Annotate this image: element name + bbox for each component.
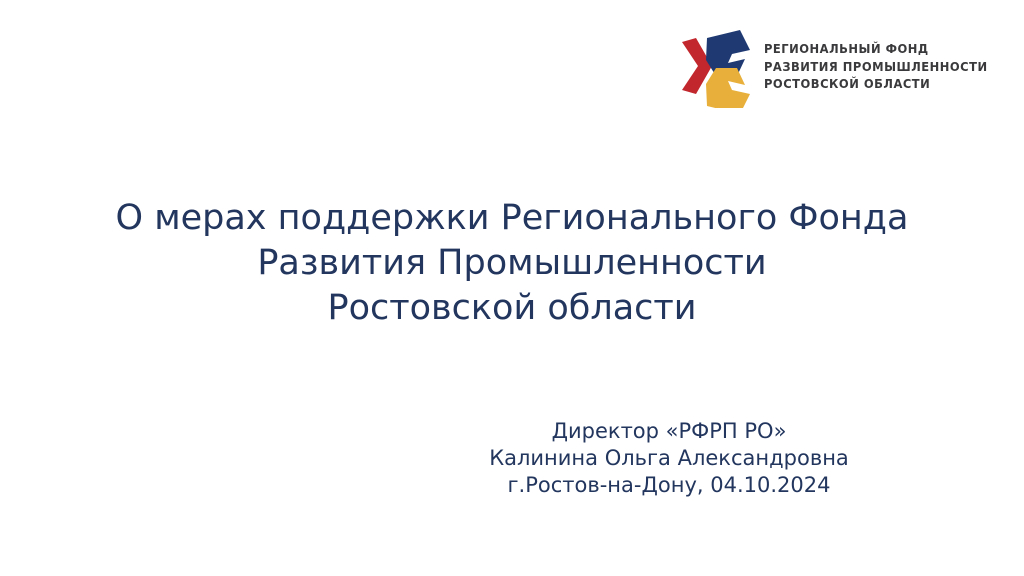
logo-text-line-2: РАЗВИТИЯ ПРОМЫШЛЕННОСТИ — [764, 60, 988, 75]
presenter-role: Директор «РФРП РО» — [430, 418, 908, 445]
presenter-location-date: г.Ростов-на-Дону, 04.10.2024 — [430, 472, 908, 499]
logo-text-line-1: РЕГИОНАЛЬНЫЙ ФОНД — [764, 42, 988, 57]
slide-title-line-3: Ростовской области — [0, 286, 1024, 331]
presentation-slide: РЕГИОНАЛЬНЫЙ ФОНД РАЗВИТИЯ ПРОМЫШЛЕННОСТ… — [0, 0, 1024, 576]
logo-text-block: РЕГИОНАЛЬНЫЙ ФОНД РАЗВИТИЯ ПРОМЫШЛЕННОСТ… — [764, 40, 1007, 92]
presenter-name: Калинина Ольга Александровна — [430, 445, 908, 472]
rfrp-ro-logo-mark-icon — [674, 24, 752, 108]
slide-title: О мерах поддержки Регионального Фонда Ра… — [0, 196, 1024, 331]
organization-logo: РЕГИОНАЛЬНЫЙ ФОНД РАЗВИТИЯ ПРОМЫШЛЕННОСТ… — [674, 24, 1007, 108]
slide-title-line-1: О мерах поддержки Регионального Фонда — [0, 196, 1024, 241]
slide-title-line-2: Развития Промышленности — [0, 241, 1024, 286]
logo-text-line-3: РОСТОВСКОЙ ОБЛАСТИ — [764, 77, 988, 92]
presenter-info: Директор «РФРП РО» Калинина Ольга Алекса… — [430, 418, 908, 499]
